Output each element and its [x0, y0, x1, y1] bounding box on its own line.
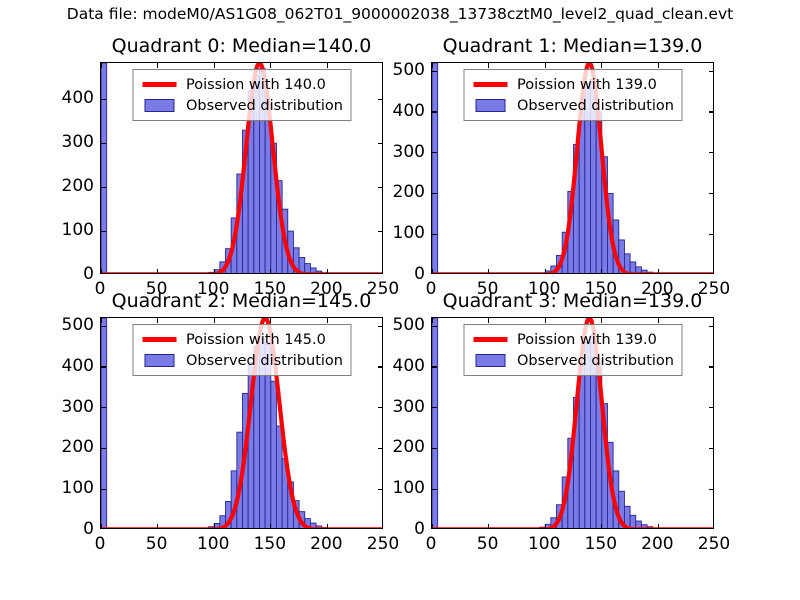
x-tick-mark-top [270, 63, 271, 68]
x-tick-mark-top [488, 318, 489, 323]
x-tick-mark [432, 269, 433, 274]
x-tick-mark [658, 269, 659, 274]
legend-line-swatch [473, 82, 507, 87]
x-tick-mark [214, 524, 215, 529]
x-tick-mark [214, 269, 215, 274]
legend-entry: Poission with 140.0 [139, 74, 343, 95]
y-tick-label: 400 [44, 356, 94, 376]
legend-symbol [139, 99, 180, 112]
legend-symbol [470, 82, 511, 87]
x-tick-mark-top [270, 318, 271, 323]
y-tick-mark [101, 143, 106, 144]
histogram-bar [432, 318, 438, 529]
y-tick-mark-right [709, 152, 714, 153]
y-tick-label: 300 [44, 397, 94, 417]
x-tick-mark-top [488, 63, 489, 68]
subplot-quadrant-3: Quadrant 3: Median=139.0Poission with 13… [431, 317, 714, 529]
subplot-title-quadrant-1: Quadrant 1: Median=139.0 [431, 35, 714, 57]
x-tick-mark [157, 524, 158, 529]
x-tick-mark-top [327, 63, 328, 68]
x-tick-mark-top [545, 63, 546, 68]
y-tick-label: 500 [375, 315, 425, 335]
histogram-bar [630, 515, 636, 529]
y-tick-mark [101, 326, 106, 327]
legend-quadrant-0: Poission with 140.0Observed distribution [132, 69, 351, 121]
legend-quadrant-3: Poission with 139.0Observed distribution [463, 324, 682, 376]
x-tick-mark [601, 524, 602, 529]
x-tick-label: 250 [698, 534, 730, 554]
legend-label: Poission with 145.0 [180, 332, 326, 348]
subplot-quadrant-0: Quadrant 0: Median=140.0Poission with 14… [100, 62, 383, 274]
subplot-quadrant-2: Quadrant 2: Median=145.0Poission with 14… [100, 317, 383, 529]
x-tick-mark-top [327, 318, 328, 323]
y-tick-label: 200 [375, 437, 425, 457]
y-tick-label: 0 [44, 264, 94, 284]
y-tick-label: 100 [44, 478, 94, 498]
y-tick-mark-right [709, 326, 714, 327]
y-tick-mark [432, 111, 437, 112]
plot-area-quadrant-2: Poission with 145.0Observed distribution [100, 317, 383, 529]
y-tick-mark [432, 193, 437, 194]
legend-patch-swatch [475, 99, 505, 112]
legend-entry: Poission with 139.0 [470, 74, 674, 95]
x-tick-mark [270, 524, 271, 529]
y-tick-mark [101, 187, 106, 188]
x-tick-mark [327, 524, 328, 529]
y-tick-label: 200 [44, 437, 94, 457]
y-tick-label: 200 [375, 182, 425, 202]
legend-entry: Observed distribution [139, 350, 343, 371]
histogram-bar [101, 63, 107, 274]
legend-symbol [139, 354, 180, 367]
y-tick-mark [432, 407, 437, 408]
x-tick-label: 150 [254, 534, 286, 554]
legend-symbol [470, 99, 511, 112]
legend-label: Poission with 139.0 [511, 332, 657, 348]
y-tick-mark-right [709, 407, 714, 408]
x-tick-label: 150 [585, 534, 617, 554]
y-tick-mark [432, 152, 437, 153]
x-tick-mark-top [214, 318, 215, 323]
y-tick-label: 300 [44, 132, 94, 152]
y-tick-label: 400 [44, 88, 94, 108]
legend-line-swatch [473, 337, 507, 342]
legend-line-swatch [142, 82, 176, 87]
x-tick-mark [545, 524, 546, 529]
legend-label: Observed distribution [511, 98, 674, 114]
x-tick-label: 100 [528, 534, 560, 554]
subplot-title-quadrant-0: Quadrant 0: Median=140.0 [100, 35, 383, 57]
legend-patch-swatch [144, 354, 174, 367]
legend-label: Poission with 139.0 [511, 77, 657, 93]
legend-symbol [470, 337, 511, 342]
legend-patch-swatch [475, 354, 505, 367]
y-tick-mark [432, 71, 437, 72]
x-tick-mark [327, 269, 328, 274]
plot-area-quadrant-1: Poission with 139.0Observed distribution [431, 62, 714, 274]
y-tick-mark [432, 448, 437, 449]
y-tick-mark [101, 99, 106, 100]
histogram-bar [203, 528, 209, 529]
histogram-bar [641, 525, 647, 529]
legend-label: Observed distribution [511, 353, 674, 369]
x-tick-label: 100 [197, 534, 229, 554]
x-tick-label: 200 [310, 534, 342, 554]
y-tick-mark-right [709, 489, 714, 490]
x-tick-mark-top [432, 318, 433, 323]
subplot-title-quadrant-3: Quadrant 3: Median=139.0 [431, 290, 714, 312]
x-tick-label: 50 [146, 534, 168, 554]
y-tick-mark [101, 448, 106, 449]
y-tick-mark-right [709, 193, 714, 194]
legend-quadrant-1: Poission with 139.0Observed distribution [463, 69, 682, 121]
x-tick-label: 200 [641, 534, 673, 554]
y-tick-mark-right [709, 234, 714, 235]
y-tick-label: 400 [375, 101, 425, 121]
y-tick-mark [101, 366, 106, 367]
subplot-title-quadrant-2: Quadrant 2: Median=145.0 [100, 290, 383, 312]
histogram-bar [534, 528, 540, 529]
y-tick-label: 100 [375, 223, 425, 243]
x-tick-mark-top [157, 63, 158, 68]
x-tick-mark-top [658, 63, 659, 68]
subplot-quadrant-1: Quadrant 1: Median=139.0Poission with 13… [431, 62, 714, 274]
y-tick-label: 100 [44, 220, 94, 240]
y-tick-mark [101, 407, 106, 408]
y-tick-mark-right [709, 448, 714, 449]
legend-entry: Observed distribution [470, 350, 674, 371]
y-tick-label: 0 [375, 519, 425, 539]
x-tick-mark-top [601, 318, 602, 323]
x-tick-mark-top [658, 318, 659, 323]
y-tick-label: 0 [44, 519, 94, 539]
x-tick-mark [601, 269, 602, 274]
y-tick-label: 300 [375, 397, 425, 417]
legend-label: Observed distribution [180, 98, 343, 114]
y-tick-label: 100 [375, 478, 425, 498]
x-tick-label: 50 [477, 534, 499, 554]
histogram-bar [540, 273, 546, 274]
histogram-bar [310, 523, 316, 529]
histogram-bar [641, 270, 647, 274]
histogram-bar [653, 528, 659, 529]
y-tick-mark-right [378, 99, 383, 100]
y-tick-label: 500 [375, 60, 425, 80]
legend-entry: Observed distribution [470, 95, 674, 116]
y-tick-label: 300 [375, 142, 425, 162]
legend-entry: Observed distribution [139, 95, 343, 116]
histogram-bar [310, 268, 316, 274]
y-tick-mark [432, 489, 437, 490]
x-tick-mark-top [101, 63, 102, 68]
histogram-bar [214, 523, 220, 529]
y-tick-mark [432, 234, 437, 235]
legend-symbol [139, 337, 180, 342]
legend-symbol [139, 82, 180, 87]
x-tick-mark [432, 524, 433, 529]
y-tick-mark [432, 366, 437, 367]
legend-symbol [470, 354, 511, 367]
y-tick-mark-right [709, 71, 714, 72]
legend-entry: Poission with 145.0 [139, 329, 343, 350]
y-tick-mark [101, 489, 106, 490]
figure-canvas: Data file: modeM0/AS1G08_062T01_90000020… [0, 0, 800, 600]
histogram-bar [432, 63, 438, 274]
x-tick-mark [658, 524, 659, 529]
x-tick-mark-top [545, 318, 546, 323]
y-tick-label: 200 [44, 176, 94, 196]
plot-area-quadrant-3: Poission with 139.0Observed distribution [431, 317, 714, 529]
legend-label: Observed distribution [180, 353, 343, 369]
y-tick-mark [101, 231, 106, 232]
plot-area-quadrant-0: Poission with 140.0Observed distribution [100, 62, 383, 274]
legend-line-swatch [142, 337, 176, 342]
figure-suptitle: Data file: modeM0/AS1G08_062T01_90000020… [0, 5, 800, 23]
y-tick-label: 400 [375, 356, 425, 376]
x-tick-mark-top [214, 63, 215, 68]
x-tick-mark [488, 524, 489, 529]
x-tick-mark [270, 269, 271, 274]
histogram-bar [203, 273, 209, 274]
legend-entry: Poission with 139.0 [470, 329, 674, 350]
y-tick-mark-right [709, 366, 714, 367]
legend-label: Poission with 140.0 [180, 77, 326, 93]
x-tick-mark [488, 269, 489, 274]
x-tick-mark [101, 269, 102, 274]
histogram-bar [276, 426, 282, 529]
x-tick-mark [545, 269, 546, 274]
y-tick-mark-right [709, 111, 714, 112]
legend-patch-swatch [144, 99, 174, 112]
x-tick-label: 0 [95, 534, 106, 554]
x-tick-mark-top [432, 63, 433, 68]
x-tick-mark-top [601, 63, 602, 68]
y-tick-mark [432, 326, 437, 327]
histogram-bar [271, 381, 277, 529]
x-tick-mark [101, 524, 102, 529]
x-tick-mark-top [101, 318, 102, 323]
legend-quadrant-2: Poission with 145.0Observed distribution [132, 324, 351, 376]
histogram-bar [630, 262, 636, 274]
x-tick-mark-top [157, 318, 158, 323]
histogram-bar [653, 273, 659, 274]
y-tick-label: 0 [375, 264, 425, 284]
x-tick-mark [157, 269, 158, 274]
y-tick-label: 500 [44, 315, 94, 335]
histogram-bar [101, 318, 107, 529]
x-tick-label: 0 [426, 534, 437, 554]
